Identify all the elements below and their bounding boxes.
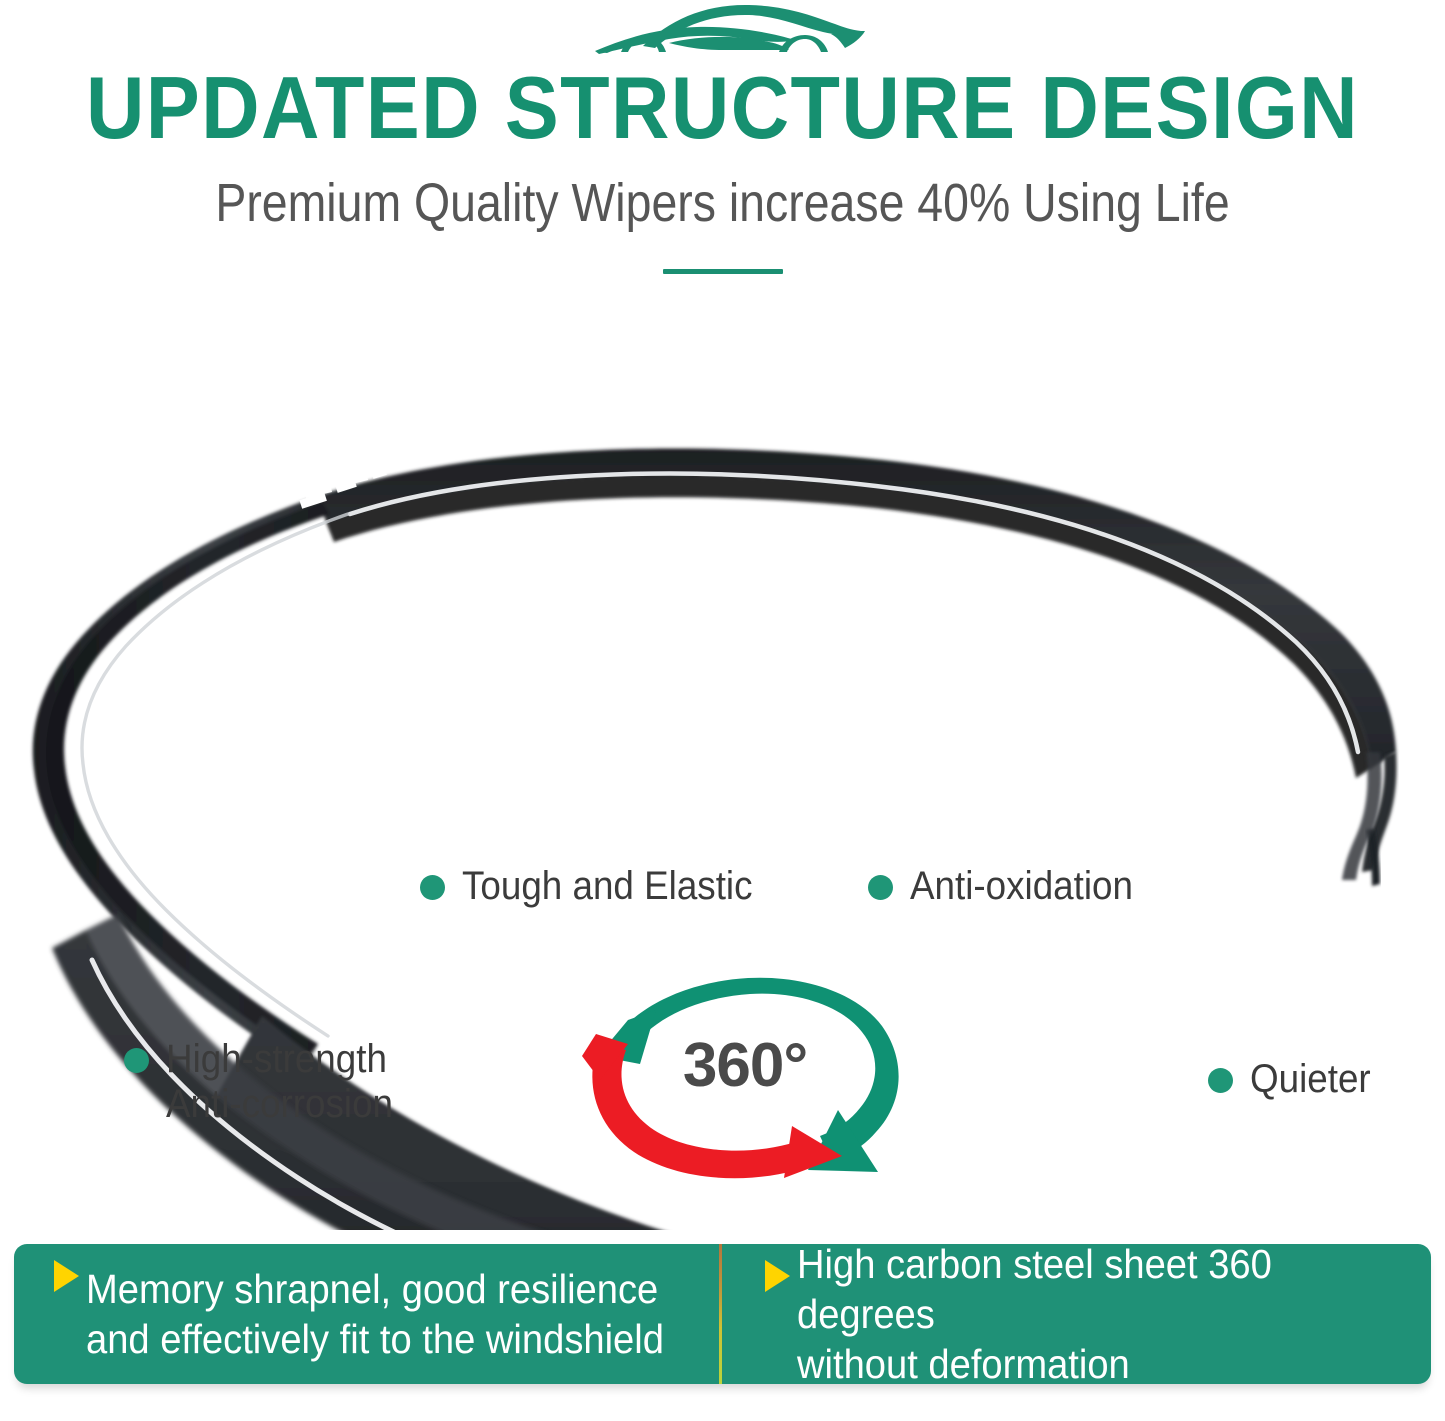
sports-car-silhouette-icon <box>573 2 873 64</box>
header: UPDATED STRUCTURE DESIGN Premium Quality… <box>0 0 1445 300</box>
banner-text-line-1: Memory shrapnel, good resilience <box>86 1266 658 1312</box>
bullet-dot-icon <box>124 1048 149 1073</box>
banner-text-line-1: High carbon steel sheet 360 degrees <box>797 1244 1272 1337</box>
bottom-feature-banner: Memory shrapnel, good resilience and eff… <box>14 1244 1431 1384</box>
callout-label-line-2: Anti-corrosion <box>166 1082 393 1126</box>
bullet-dot-icon <box>1208 1068 1233 1093</box>
callout-label: Quieter <box>1250 1057 1371 1102</box>
callout-quieter: Quieter <box>1208 1057 1381 1102</box>
yellow-triangle-bullet-icon <box>54 1260 79 1292</box>
product-image-stage: Tough and Elastic Anti-oxidation High-st… <box>0 300 1445 1230</box>
banner-text-line-2: and effectively fit to the windshield <box>86 1316 664 1362</box>
callout-label-line-1: High-strength <box>166 1037 387 1081</box>
callout-anti-oxidation: Anti-oxidation <box>868 864 1152 909</box>
page-title: UPDATED STRUCTURE DESIGN <box>58 62 1387 154</box>
callout-label: High-strength Anti-corrosion <box>166 1037 393 1127</box>
banner-text-line-2: without deformation <box>797 1341 1130 1384</box>
bullet-dot-icon <box>868 875 893 900</box>
yellow-triangle-bullet-icon <box>765 1260 790 1292</box>
callout-label: Anti-oxidation <box>910 864 1133 909</box>
badge-360-label: 360° <box>570 1032 920 1100</box>
banner-text: High carbon steel sheet 360 degrees with… <box>797 1244 1387 1384</box>
banner-panel-high-carbon-steel: High carbon steel sheet 360 degrees with… <box>722 1244 1431 1384</box>
callout-high-strength-anti-corrosion: High-strength Anti-corrosion <box>124 1037 413 1127</box>
callout-tough-and-elastic: Tough and Elastic <box>420 864 778 909</box>
banner-panel-memory-shrapnel: Memory shrapnel, good resilience and eff… <box>14 1244 719 1384</box>
360-degree-rotation-icon: 360° <box>570 960 920 1180</box>
banner-text: Memory shrapnel, good resilience and eff… <box>86 1264 664 1364</box>
title-underline-rule <box>663 269 783 274</box>
callout-label: Tough and Elastic <box>462 864 753 909</box>
page-subtitle: Premium Quality Wipers increase 40% Usin… <box>101 172 1344 234</box>
bullet-dot-icon <box>420 875 445 900</box>
